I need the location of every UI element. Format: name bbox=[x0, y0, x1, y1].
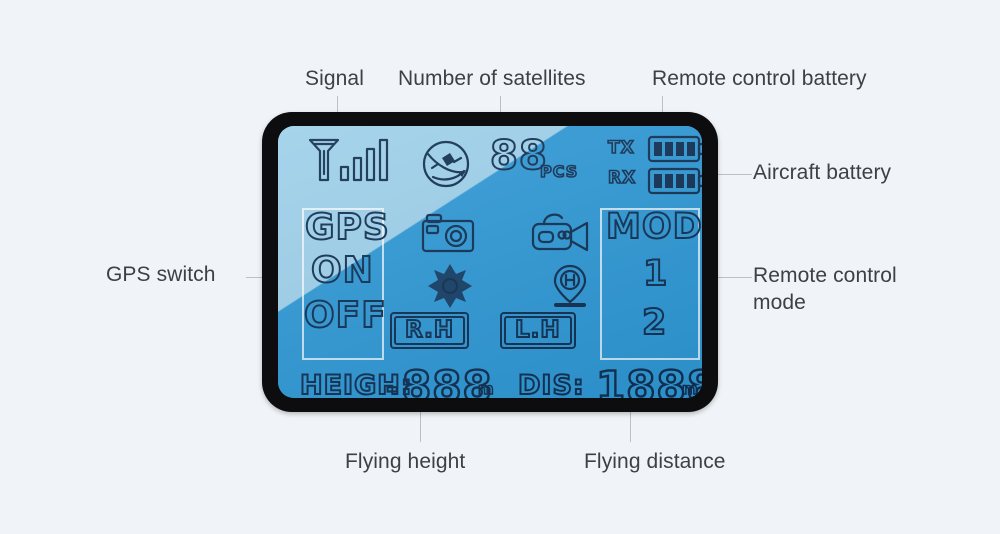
distance-unit: m bbox=[682, 382, 699, 397]
left-hand-mode-box[interactable]: L.H bbox=[500, 312, 576, 349]
compass-calibration-icon bbox=[428, 264, 472, 308]
gps-off-option[interactable]: OFF bbox=[304, 298, 387, 334]
tx-battery-icon bbox=[648, 136, 702, 162]
diagram-canvas: Signal Number of satellites Remote contr… bbox=[0, 0, 1000, 534]
callout-signal: Signal bbox=[305, 66, 364, 92]
gps-title: GPS bbox=[305, 210, 390, 246]
callout-flying-height: Flying height bbox=[345, 449, 465, 475]
callout-flying-distance: Flying distance bbox=[584, 449, 726, 475]
callout-number-of-satellites: Number of satellites bbox=[398, 66, 586, 92]
leader-line-flying-distance bbox=[630, 410, 631, 442]
callout-gps-switch: GPS switch bbox=[106, 262, 216, 288]
height-unit: m bbox=[478, 382, 495, 397]
lcd-screen: 88 PCS TX RX bbox=[278, 126, 702, 398]
right-hand-mode-label: R.H bbox=[394, 316, 465, 345]
rx-label: RX bbox=[608, 170, 636, 187]
camera-icon bbox=[422, 214, 474, 252]
home-point-icon bbox=[548, 262, 592, 310]
rx-battery-icon bbox=[648, 168, 702, 194]
camcorder-icon bbox=[532, 210, 590, 254]
tx-label: TX bbox=[608, 140, 635, 157]
height-sign: - bbox=[386, 374, 399, 398]
gps-on-option[interactable]: ON bbox=[311, 253, 374, 289]
mode-option-2[interactable]: 2 bbox=[642, 306, 667, 341]
lcd-content: 88 PCS TX RX bbox=[278, 126, 702, 398]
lcd-display-device: 88 PCS TX RX bbox=[262, 112, 718, 412]
callout-remote-control-battery: Remote control battery bbox=[652, 66, 867, 92]
satellite-unit: PCS bbox=[540, 164, 578, 180]
distance-label: DIS: bbox=[518, 372, 585, 398]
satellite-icon bbox=[420, 138, 472, 190]
mode-title: MODE bbox=[606, 210, 702, 245]
left-hand-mode-label: L.H bbox=[504, 316, 572, 345]
callout-remote-control-mode: Remote control mode bbox=[753, 262, 897, 316]
callout-aircraft-battery: Aircraft battery bbox=[753, 160, 891, 186]
leader-line-remote-mode bbox=[714, 277, 752, 278]
leader-line-flying-height bbox=[420, 410, 421, 442]
right-hand-mode-box[interactable]: R.H bbox=[390, 312, 469, 349]
mode-option-1[interactable]: 1 bbox=[643, 257, 668, 292]
signal-icon bbox=[304, 134, 388, 192]
